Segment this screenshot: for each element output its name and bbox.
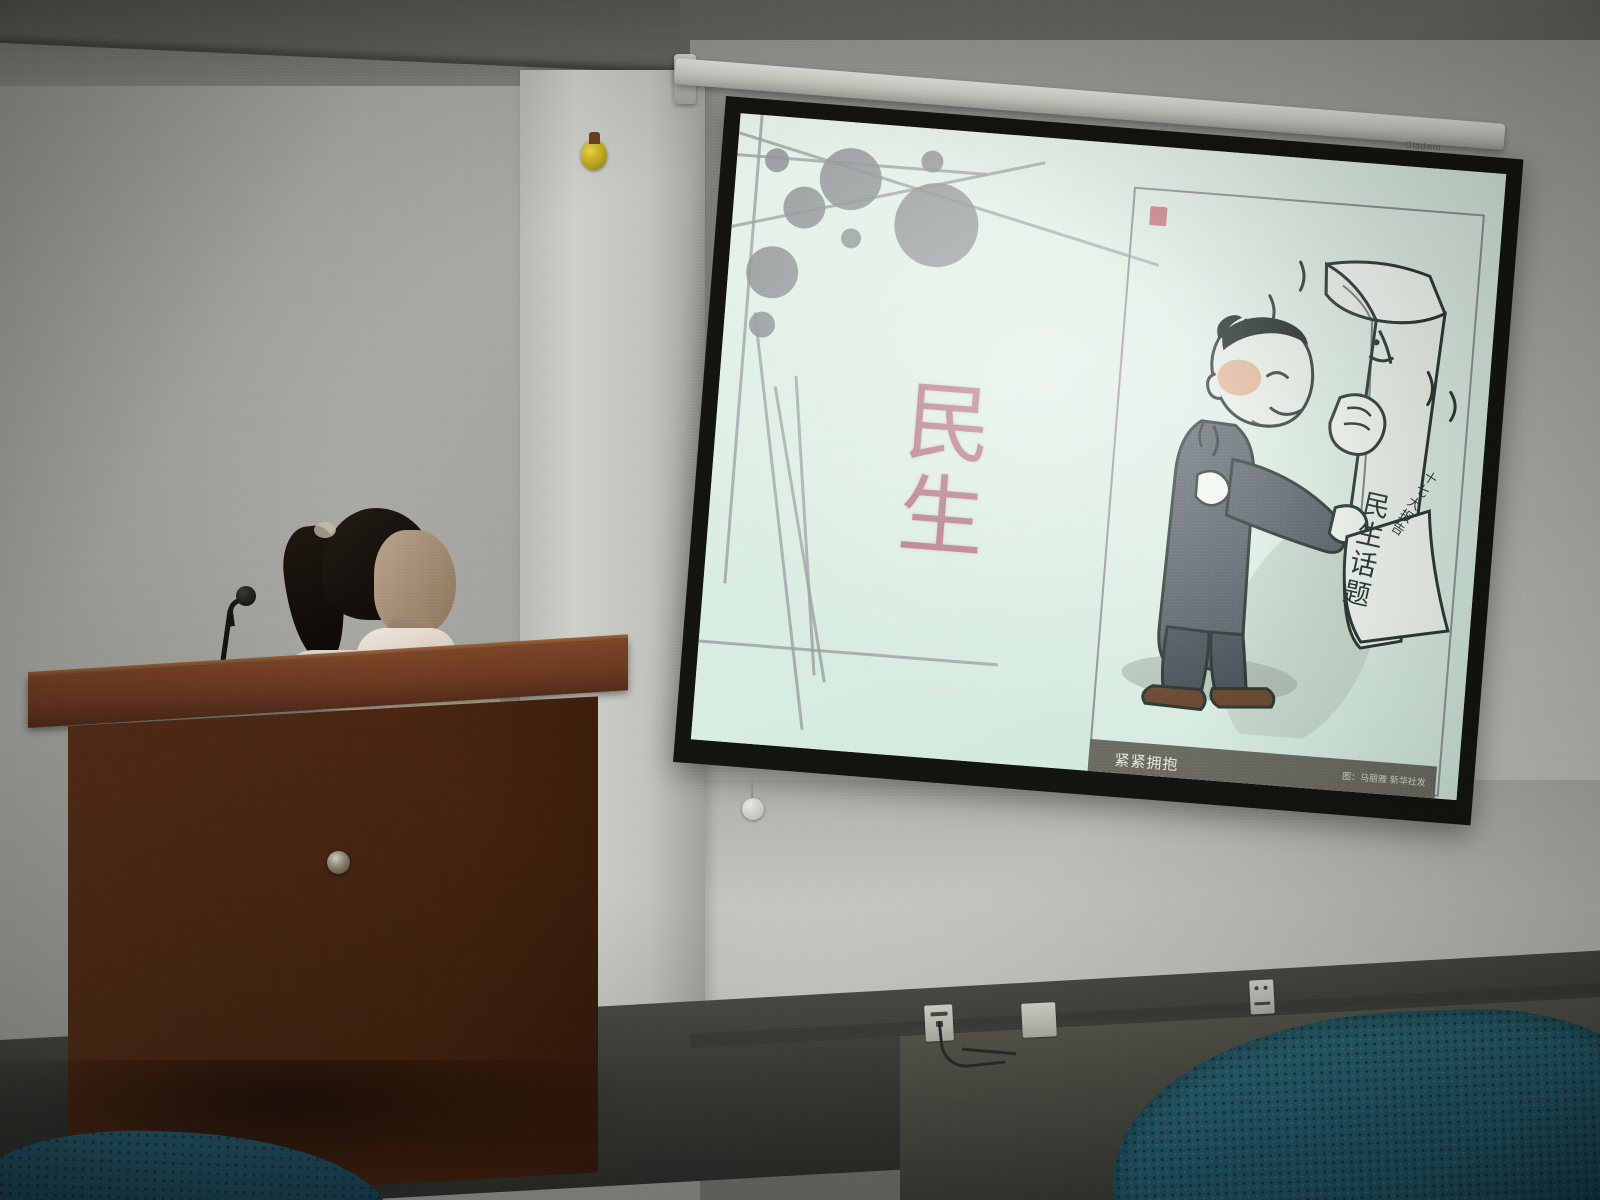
screen-pull-cord[interactable] <box>751 772 753 800</box>
blank-wall-plate[interactable] <box>1021 1002 1057 1038</box>
caption-credit-text: 图：马丽雅 新华社发 <box>1342 769 1427 789</box>
caption-left-text: 紧紧拥抱 <box>1114 749 1179 775</box>
slide-title: 民生 <box>874 374 1018 569</box>
presentation-slide: 民生 <box>691 113 1506 800</box>
podium-emblem-icon <box>327 851 350 874</box>
brass-wall-knob-icon <box>581 140 607 170</box>
projection-screen: 民生 <box>673 96 1523 825</box>
cartoon-illustration: 民生话题 十七大报告 <box>1093 219 1480 750</box>
screen-surface: 民生 <box>691 113 1506 800</box>
slide-illustration-panel: 民生话题 十七大报告 <box>1088 187 1485 797</box>
lecture-hall-photo: Gladwin <box>0 0 1600 1200</box>
microphone-head-icon <box>236 586 256 606</box>
hair-tie <box>314 522 336 538</box>
screen-pull-cord-handle[interactable] <box>742 798 764 820</box>
power-outlet[interactable] <box>1249 979 1275 1014</box>
